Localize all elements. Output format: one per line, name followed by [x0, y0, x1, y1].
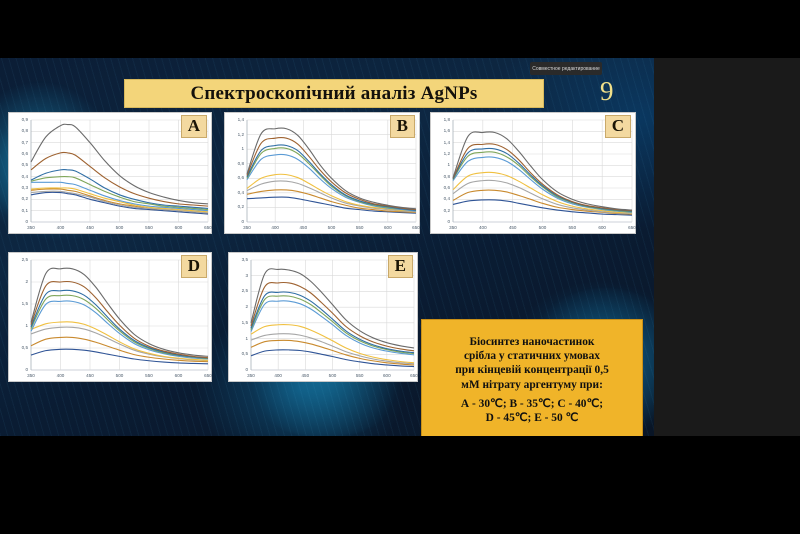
x-axis-tick-label: 350: [244, 373, 258, 378]
chart-panel-label-d: D: [181, 255, 207, 278]
x-axis-tick-label: 450: [296, 225, 310, 230]
x-axis-tick-label: 500: [326, 373, 340, 378]
y-axis-tick-label: 0,2: [9, 196, 28, 201]
chart-panel-e: 00,511,522,533,5350400450500550600650E: [228, 252, 418, 382]
x-axis-tick-label: 500: [113, 373, 127, 378]
x-axis-tick-label: 600: [380, 373, 394, 378]
y-axis-tick-label: 1,5: [9, 301, 28, 306]
y-axis-tick-label: 1,8: [431, 117, 450, 122]
y-axis-tick-label: 0: [9, 367, 28, 372]
chart-panel-label-b: B: [390, 115, 415, 138]
y-axis-tick-label: 0,6: [225, 175, 244, 180]
y-axis-tick-label: 0,8: [9, 128, 28, 133]
y-axis-tick-label: 0,4: [225, 190, 244, 195]
slide-number: 9: [600, 76, 614, 107]
y-axis-tick-label: 0,4: [9, 174, 28, 179]
y-axis-tick-label: 0,1: [9, 208, 28, 213]
x-axis-tick-label: 400: [54, 373, 68, 378]
y-axis-tick-label: 0,2: [225, 204, 244, 209]
caption-text-legend: A - 30℃; B - 35℃; C - 40℃;D - 45℃; E - 5…: [461, 397, 603, 425]
y-axis-tick-label: 1: [225, 146, 244, 151]
caption-text-main: Біосинтез наночастиноксрібла у статичних…: [455, 335, 609, 392]
y-axis-tick-label: 0,7: [9, 140, 28, 145]
x-axis-tick-label: 600: [172, 225, 186, 230]
y-axis-tick-label: 2,5: [229, 288, 248, 293]
y-axis-tick-label: 0,5: [9, 345, 28, 350]
y-axis-tick-label: 1: [9, 323, 28, 328]
x-axis-tick-label: 400: [54, 225, 68, 230]
chart-panel-label-a: A: [181, 115, 207, 138]
y-axis-tick-label: 2,5: [9, 257, 28, 262]
x-axis-tick-label: 600: [595, 225, 609, 230]
x-axis-tick-label: 500: [113, 225, 127, 230]
y-axis-tick-label: 0,5: [229, 351, 248, 356]
y-axis-tick-label: 0: [9, 219, 28, 224]
chart-panel-b: 00,20,40,60,811,21,435040045050055060065…: [224, 112, 420, 234]
x-axis-tick-label: 650: [409, 225, 423, 230]
y-axis-tick-label: 0,8: [225, 161, 244, 166]
y-axis-tick-label: 0,6: [9, 151, 28, 156]
y-axis-tick-label: 0: [225, 219, 244, 224]
page-title: Спектроскопічний аналіз AgNPs: [190, 83, 477, 105]
x-axis-tick-label: 350: [240, 225, 254, 230]
y-axis-tick-label: 1,5: [229, 320, 248, 325]
x-axis-tick-label: 600: [172, 373, 186, 378]
y-axis-tick-label: 1,2: [225, 132, 244, 137]
slide-caption-box: Біосинтез наночастиноксрібла у статичних…: [421, 319, 643, 436]
y-axis-tick-label: 1,4: [431, 140, 450, 145]
slide-title-banner: Спектроскопічний аналіз AgNPs: [124, 79, 544, 108]
y-axis-tick-label: 0,3: [9, 185, 28, 190]
chart-panel-label-e: E: [388, 255, 413, 278]
y-axis-tick-label: 1: [431, 162, 450, 167]
x-axis-tick-label: 450: [83, 225, 97, 230]
y-axis-tick-label: 0,5: [9, 162, 28, 167]
x-axis-tick-label: 400: [476, 225, 490, 230]
y-axis-tick-label: 3: [229, 273, 248, 278]
y-axis-tick-label: 1,2: [431, 151, 450, 156]
x-axis-tick-label: 450: [298, 373, 312, 378]
y-axis-tick-label: 3,5: [229, 257, 248, 262]
x-axis-tick-label: 400: [271, 373, 285, 378]
participants-rail: Ростислав Коваль (гость) Колособойн...КС…: [654, 58, 800, 436]
shared-screen-slide[interactable]: 00,10,20,30,40,50,60,70,80,9350400450500…: [0, 58, 654, 436]
y-axis-tick-label: 0,6: [431, 185, 450, 190]
x-axis-tick-label: 350: [24, 373, 38, 378]
x-axis-tick-label: 350: [24, 225, 38, 230]
tooltip-label: Совместное редактирование: [532, 66, 599, 72]
chart-panel-d: 00,511,522,5350400450500550600650D: [8, 252, 212, 382]
zoom-meeting-window: 00,10,20,30,40,50,60,70,80,9350400450500…: [0, 0, 800, 534]
chart-panel-a: 00,10,20,30,40,50,60,70,80,9350400450500…: [8, 112, 212, 234]
x-axis-tick-label: 600: [381, 225, 395, 230]
x-axis-tick-label: 500: [536, 225, 550, 230]
y-axis-tick-label: 2: [9, 279, 28, 284]
x-axis-tick-label: 650: [407, 373, 421, 378]
y-axis-tick-label: 0,4: [431, 196, 450, 201]
x-axis-tick-label: 350: [446, 225, 460, 230]
y-axis-tick-label: 0,8: [431, 174, 450, 179]
x-axis-tick-label: 450: [506, 225, 520, 230]
y-axis-tick-label: 0: [431, 219, 450, 224]
x-axis-tick-label: 500: [325, 225, 339, 230]
x-axis-tick-label: 650: [201, 373, 215, 378]
y-axis-tick-label: 1: [229, 336, 248, 341]
x-axis-tick-label: 550: [353, 373, 367, 378]
x-axis-tick-label: 550: [142, 373, 156, 378]
y-axis-tick-label: 1,6: [431, 128, 450, 133]
x-axis-tick-label: 450: [83, 373, 97, 378]
chart-panel-c: 00,20,40,60,811,21,41,61,835040045050055…: [430, 112, 636, 234]
y-axis-tick-label: 1,4: [225, 117, 244, 122]
x-axis-tick-label: 400: [268, 225, 282, 230]
x-axis-tick-label: 650: [625, 225, 639, 230]
y-axis-tick-label: 0,2: [431, 208, 450, 213]
y-axis-tick-label: 2: [229, 304, 248, 309]
y-axis-tick-label: 0: [229, 367, 248, 372]
chart-panel-label-c: C: [605, 115, 631, 138]
x-axis-tick-label: 650: [201, 225, 215, 230]
x-axis-tick-label: 550: [353, 225, 367, 230]
x-axis-tick-label: 550: [142, 225, 156, 230]
y-axis-tick-label: 0,9: [9, 117, 28, 122]
x-axis-tick-label: 550: [565, 225, 579, 230]
annotation-toolbar-tooltip[interactable]: Совместное редактирование: [530, 62, 602, 75]
